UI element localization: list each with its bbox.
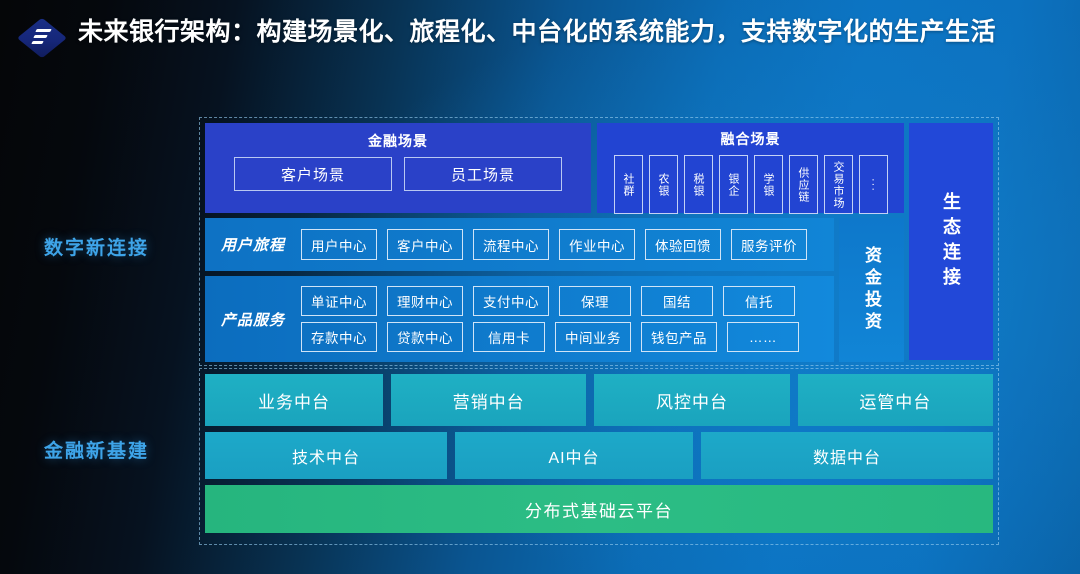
product-chip-deposit-center[interactable]: 存款中心 bbox=[301, 322, 377, 352]
column-fund-investment[interactable]: 资金投资 bbox=[839, 218, 904, 362]
fusion-chip-trading-market[interactable]: 交易市场 bbox=[824, 155, 853, 214]
fusion-scene-items: 社群 农银 税银 银企 学银 供应链 交易市场 ··· bbox=[614, 155, 888, 214]
scene-item-customer[interactable]: 客户场景 bbox=[234, 157, 392, 191]
mid-rows: 用户旅程 用户中心 客户中心 流程中心 作业中心 体验回馈 服务评价 产品服务 … bbox=[205, 218, 834, 362]
mid-platform-row: 业务中台 营销中台 风控中台 运管中台 bbox=[205, 374, 993, 426]
product-grid: 单证中心 理财中心 支付中心 保理 国结 信托 存款中心 贷款中心 信用卡 bbox=[301, 286, 799, 352]
product-chip-loan-center[interactable]: 贷款中心 bbox=[387, 322, 463, 352]
fusion-chip-agri-bank[interactable]: 农银 bbox=[649, 155, 678, 214]
fusion-chip-tax-bank[interactable]: 税银 bbox=[684, 155, 713, 214]
product-chip-wallet-product[interactable]: 钱包产品 bbox=[641, 322, 717, 352]
panel-fusion-scene[interactable]: 融合场景 社群 农银 税银 银企 学银 供应链 交易市场 ··· bbox=[597, 123, 904, 213]
page-header: 未来银行架构：构建场景化、旅程化、中台化的系统能力，支持数字化的生产生活 bbox=[0, 0, 1080, 104]
mid-stack: 用户旅程 用户中心 客户中心 流程中心 作业中心 体验回馈 服务评价 产品服务 … bbox=[205, 218, 904, 362]
fund-investment-label: 资金投资 bbox=[859, 246, 884, 334]
journey-row-label: 用户旅程 bbox=[221, 234, 285, 255]
tile-ai-platform[interactable]: AI中台 bbox=[455, 432, 693, 479]
page-title: 未来银行架构：构建场景化、旅程化、中台化的系统能力，支持数字化的生产生活 bbox=[78, 14, 996, 50]
company-logo-icon bbox=[22, 18, 64, 60]
row-product-service: 产品服务 单证中心 理财中心 支付中心 保理 国结 信托 存 bbox=[205, 276, 834, 362]
panel-financial-scene[interactable]: 金融场景 客户场景 员工场景 bbox=[205, 123, 591, 213]
row-user-journey: 用户旅程 用户中心 客户中心 流程中心 作业中心 体验回馈 服务评价 bbox=[205, 218, 834, 271]
upper-layer: 金融场景 客户场景 员工场景 融合场景 社群 农银 税银 银企 学银 供应链 bbox=[205, 123, 993, 360]
product-chip-payment-center[interactable]: 支付中心 bbox=[473, 286, 549, 316]
scene-item-employee[interactable]: 员工场景 bbox=[404, 157, 562, 191]
product-line-1: 单证中心 理财中心 支付中心 保理 国结 信托 bbox=[301, 286, 799, 316]
product-chip-more[interactable]: …… bbox=[727, 322, 799, 352]
journey-chip-service-evaluation[interactable]: 服务评价 bbox=[731, 229, 807, 260]
logo-bars bbox=[31, 29, 53, 48]
fusion-chip-school-bank[interactable]: 学银 bbox=[754, 155, 783, 214]
tile-operations-platform[interactable]: 运管中台 bbox=[798, 374, 993, 426]
product-chip-document-center[interactable]: 单证中心 bbox=[301, 286, 377, 316]
column-ecosystem-connection[interactable]: 生态连接 bbox=[909, 123, 993, 360]
tile-business-platform[interactable]: 业务中台 bbox=[205, 374, 383, 426]
product-chip-wealth-center[interactable]: 理财中心 bbox=[387, 286, 463, 316]
tile-marketing-platform[interactable]: 营销中台 bbox=[391, 374, 586, 426]
product-chip-intl-settlement[interactable]: 国结 bbox=[641, 286, 713, 316]
tile-data-platform[interactable]: 数据中台 bbox=[701, 432, 993, 479]
fusion-chip-supply-chain[interactable]: 供应链 bbox=[789, 155, 818, 214]
fusion-chip-community[interactable]: 社群 bbox=[614, 155, 643, 214]
product-chip-factoring[interactable]: 保理 bbox=[559, 286, 631, 316]
product-chip-intermediary-business[interactable]: 中间业务 bbox=[555, 322, 631, 352]
architecture-diagram: 金融场景 客户场景 员工场景 融合场景 社群 农银 税银 银企 学银 供应链 bbox=[199, 117, 999, 545]
fusion-scene-heading: 融合场景 bbox=[721, 129, 781, 149]
financial-scene-heading: 金融场景 bbox=[368, 131, 428, 151]
journey-chip-operation-center[interactable]: 作业中心 bbox=[559, 229, 635, 260]
lower-layer: 业务中台 营销中台 风控中台 运管中台 技术中台 AI中台 数据中台 分布式基础… bbox=[205, 374, 993, 539]
journey-chip-customer-center[interactable]: 客户中心 bbox=[387, 229, 463, 260]
fusion-chip-more[interactable]: ··· bbox=[859, 155, 888, 214]
tech-platform-row: 技术中台 AI中台 数据中台 bbox=[205, 432, 993, 479]
product-row-label: 产品服务 bbox=[221, 309, 285, 330]
bar-distributed-cloud-platform[interactable]: 分布式基础云平台 bbox=[205, 485, 993, 533]
financial-scene-items: 客户场景 员工场景 bbox=[234, 157, 562, 191]
rail-label-digital-connection: 数字新连接 bbox=[44, 233, 149, 260]
ecosystem-connection-label: 生态连接 bbox=[938, 192, 964, 292]
fusion-chip-bank-enterprise[interactable]: 银企 bbox=[719, 155, 748, 214]
rail-label-financial-infrastructure: 金融新基建 bbox=[44, 436, 149, 463]
upper-left-column: 金融场景 客户场景 员工场景 融合场景 社群 农银 税银 银企 学银 供应链 bbox=[205, 123, 904, 360]
product-line-2: 存款中心 贷款中心 信用卡 中间业务 钱包产品 …… bbox=[301, 322, 799, 352]
journey-chip-experience-feedback[interactable]: 体验回馈 bbox=[645, 229, 721, 260]
journey-chip-user-center[interactable]: 用户中心 bbox=[301, 229, 377, 260]
tile-risk-platform[interactable]: 风控中台 bbox=[594, 374, 789, 426]
journey-chip-process-center[interactable]: 流程中心 bbox=[473, 229, 549, 260]
tile-technology-platform[interactable]: 技术中台 bbox=[205, 432, 447, 479]
product-chip-trust[interactable]: 信托 bbox=[723, 286, 795, 316]
scenario-row: 金融场景 客户场景 员工场景 融合场景 社群 农银 税银 银企 学银 供应链 bbox=[205, 123, 904, 213]
product-chip-credit-card[interactable]: 信用卡 bbox=[473, 322, 545, 352]
